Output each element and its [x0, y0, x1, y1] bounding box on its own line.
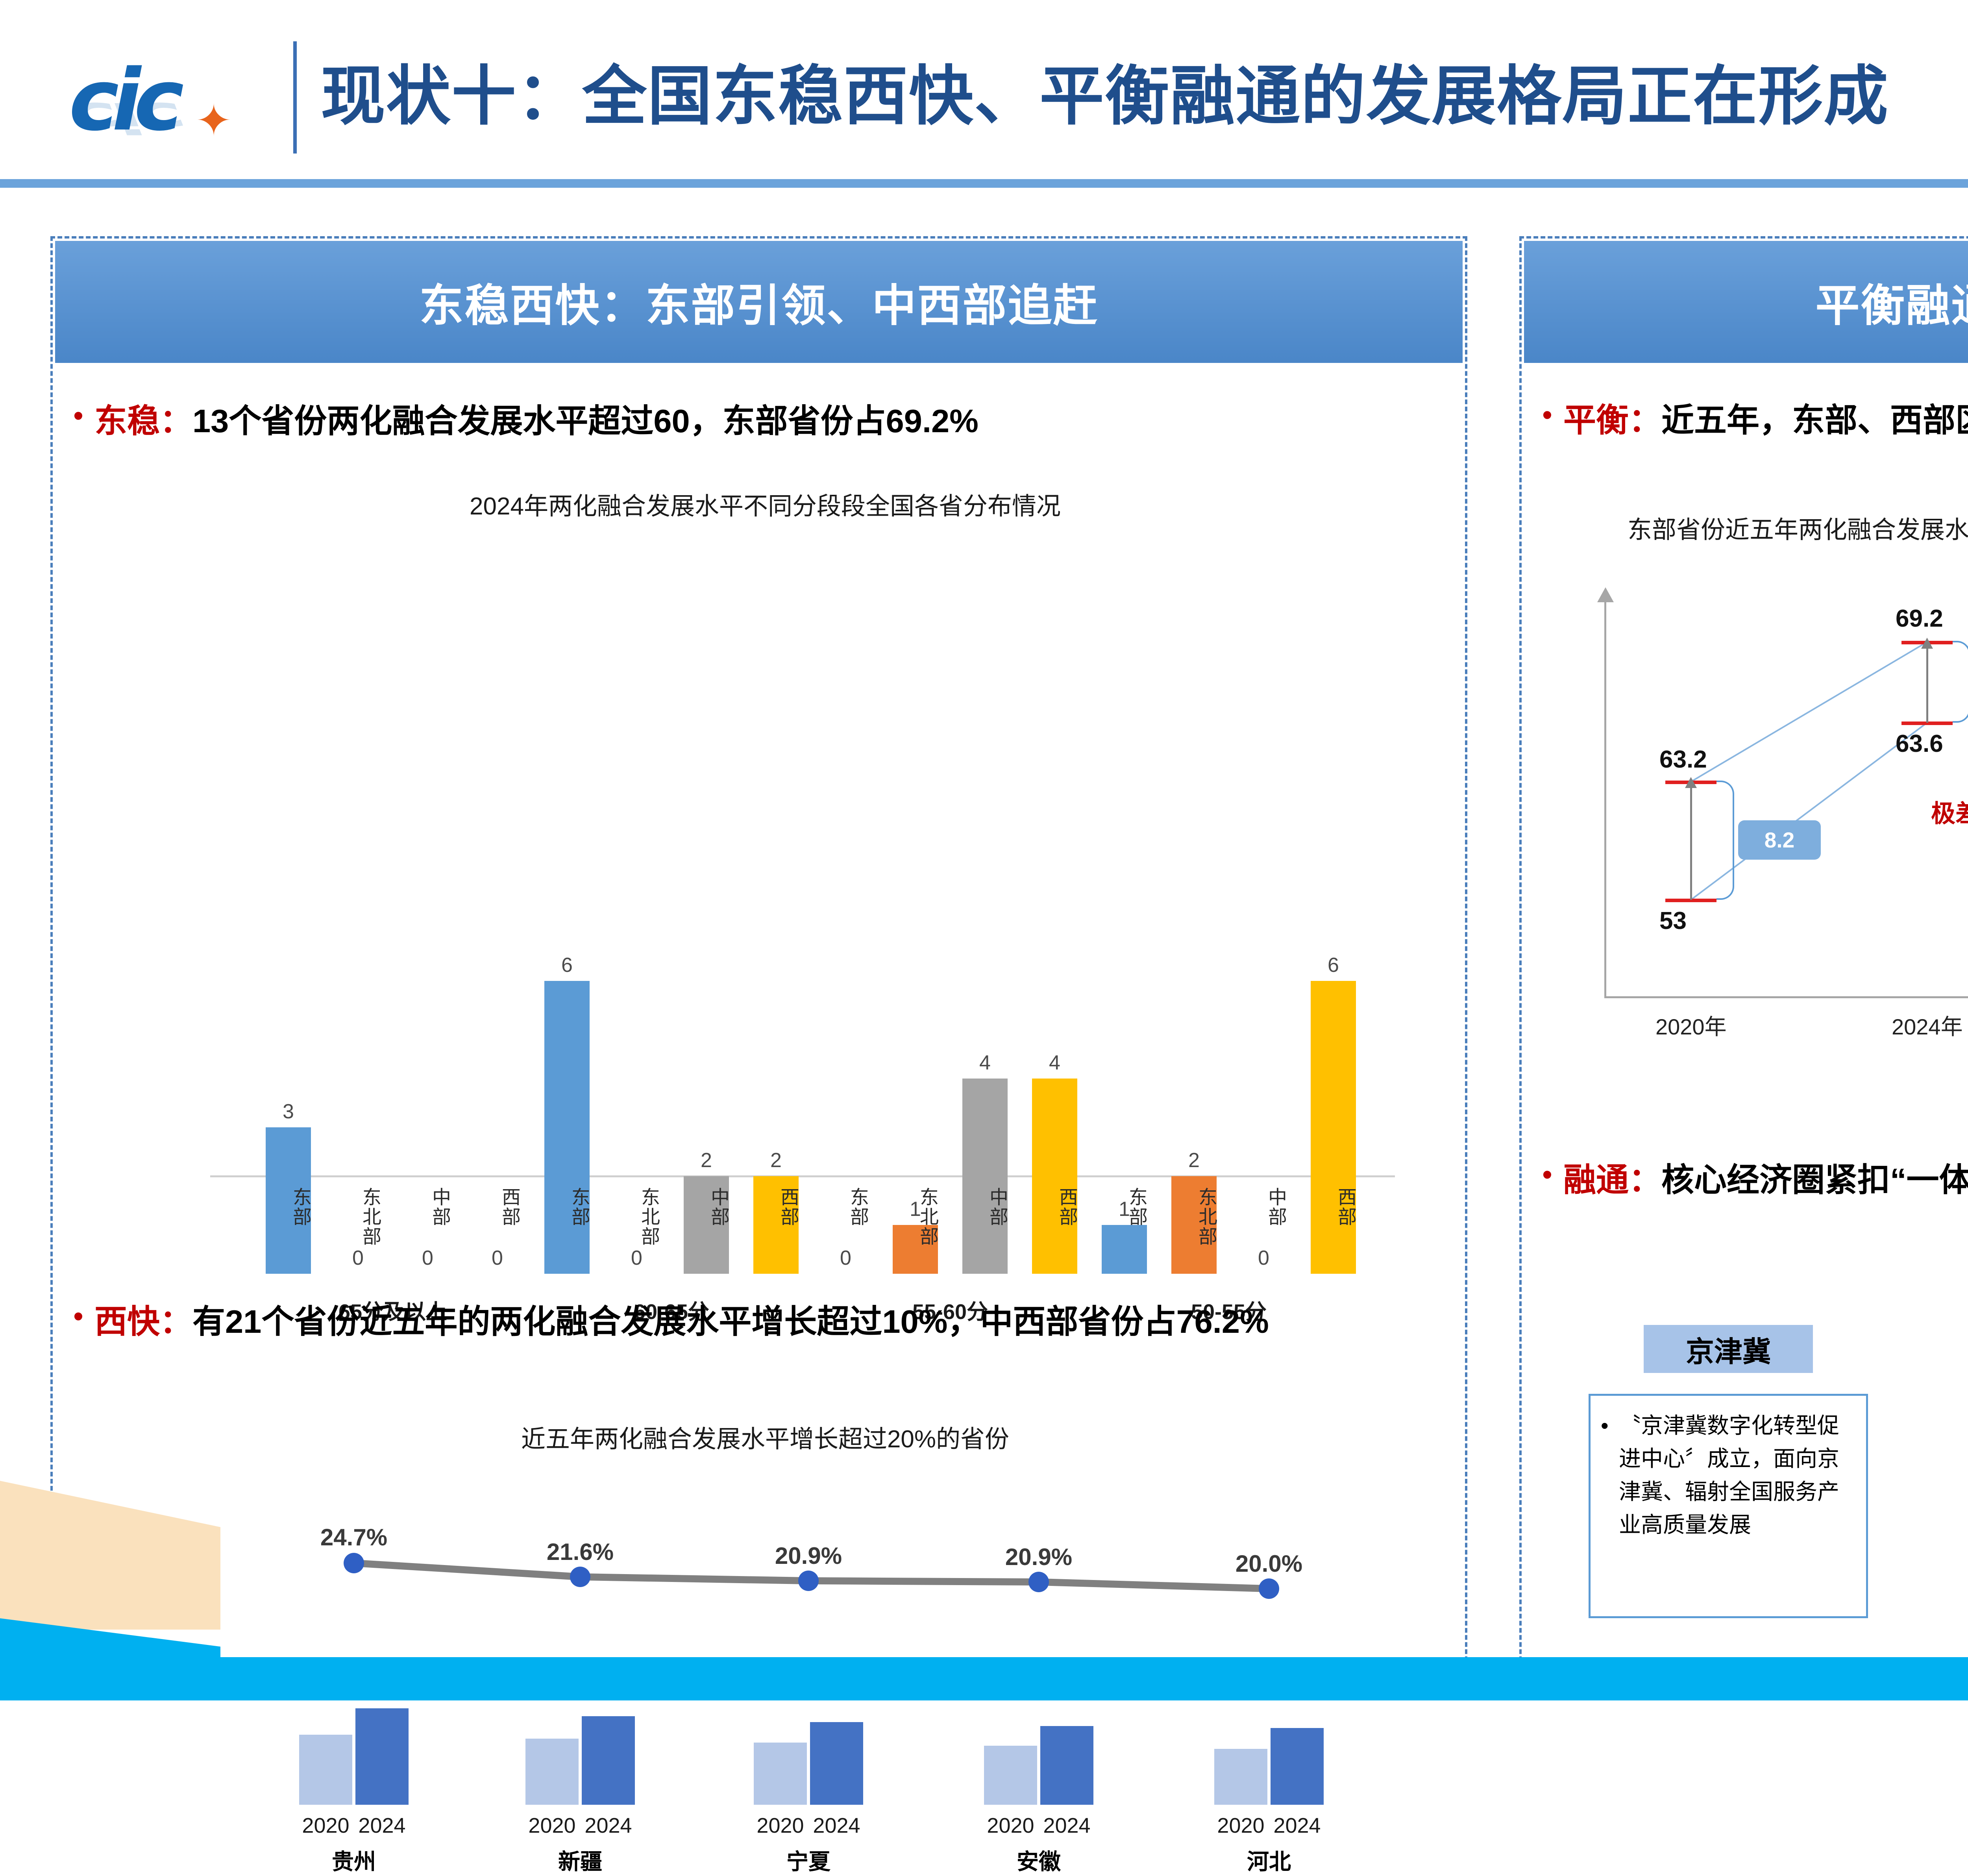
slope1-2024-brace [1953, 641, 1968, 723]
header-divider [293, 41, 297, 154]
bar-2020 [984, 1746, 1037, 1805]
right-bullet-1: • 平衡：近五年，东部、西部区域内省份两化融合发展水平极差分别收窄31.7%和2… [1542, 396, 1968, 445]
footer-strip [220, 1657, 1968, 1700]
bar-2024 [355, 1708, 409, 1805]
slope1-2020-max-label: 63.2 [1659, 746, 1707, 773]
chart1-xlabel-2-2: 中部 [962, 1187, 1008, 1227]
slope1-2024-max-label: 69.2 [1896, 605, 1943, 633]
chart2-pct-0: 24.7% [320, 1524, 387, 1551]
cic-logo: cic ✦ cic [69, 51, 274, 150]
chart1-xlabel-3-1: 东北部 [1171, 1187, 1217, 1246]
slope1-gap-2020: 8.2 [1738, 820, 1821, 860]
bar-2020 [1214, 1749, 1267, 1805]
chart2-province-label-3: 安徽 [956, 1844, 1121, 1876]
right-panel-header: 平衡融通：区域间差距收窄、集聚效应显现 [1524, 241, 1968, 363]
chart2-years-4: 2020 2024 [1186, 1813, 1352, 1838]
list-item: • 〝京津冀数字化转型促进中心〞成立，面向京津冀、辐射全国服务产业高质量发展 [1601, 1409, 1854, 1541]
year-label: 2024 [1271, 1813, 1324, 1838]
right-panel: 平衡融通：区域间差距收窄、集聚效应显现 • 平衡：近五年，东部、西部区域内省份两… [1519, 236, 1968, 1661]
slope1-2020-min-label: 53 [1659, 907, 1687, 935]
slope1-title: 东部省份近五年两化融合发展水平差距收窄情况 [1589, 514, 1968, 546]
chart1-xlabel-2-0: 东部 [823, 1187, 868, 1227]
left-bullet-2-lead: 西快： [94, 1303, 192, 1340]
bar-2024 [582, 1716, 635, 1805]
slope1-note: 极差收窄：31.7% [1931, 794, 1968, 829]
left-panel-header: 东稳西快：东部引领、中西部追赶 [55, 241, 1463, 363]
chart2-years-3: 2020 2024 [956, 1813, 1121, 1838]
right-bullet-1-body: 近五年，东部、西部区域内省份两化融合发展水平极差分别收窄31.7%和20.1% [1661, 402, 1968, 438]
chart1-xlabel-2-1: 东北部 [893, 1187, 938, 1246]
chart2-pct-1: 21.6% [547, 1538, 614, 1565]
bullet-dot-icon: • [1601, 1409, 1619, 1442]
chart-province-growth: 24.7% 21.6% 20.9% 20.9% 20.0% 2020 2024 … [183, 1526, 1422, 1876]
chart1-title: 2024年两化融合发展水平不同分段段全国各省分布情况 [171, 490, 1359, 523]
bar-2020 [754, 1743, 807, 1805]
year-label: 2024 [582, 1813, 635, 1838]
right-panel-header-label: 平衡融通：区域间差距收窄、集聚效应显现 [1816, 270, 1968, 334]
right-bullet-1-lead: 平衡： [1563, 402, 1661, 438]
chart2-province-label-0: 贵州 [271, 1844, 437, 1876]
bullet-dot-icon: • [73, 1297, 94, 1335]
chart2-point-labels: 24.7% 21.6% 20.9% 20.9% 20.0% [183, 1526, 1422, 1644]
left-bullet-1-body: 13个省份两化融合发展水平超过60，东部省份占69.2% [192, 403, 978, 439]
bar-2024 [1271, 1728, 1324, 1805]
slope1-connectors [1581, 585, 1968, 1049]
year-label: 2020 [754, 1813, 807, 1838]
chart-east-gap: 8.2 63.2 53 5.6 69.2 63.6 极差收窄：31.7% 202… [1581, 585, 1968, 1049]
chart2-province-label-1: 新疆 [498, 1844, 663, 1876]
bar-2024 [810, 1722, 863, 1805]
region-chip-label: 京津冀 [1686, 1328, 1771, 1370]
header-rule [0, 179, 1968, 188]
year-label: 2020 [525, 1813, 579, 1838]
star-icon: ✦ [196, 99, 232, 142]
year-label: 2024 [810, 1813, 863, 1838]
chart1-value-3-1: 2 [1188, 1149, 1200, 1172]
header-rule-inner [0, 188, 1968, 190]
year-label: 2020 [984, 1813, 1037, 1838]
chart1-xlabel-3-0: 东部 [1102, 1187, 1147, 1227]
chart1-x-labels: 东部 东北部 中部 西部 东部 东北部 中部 西部 东部 东北部 中部 西部 东… [183, 1187, 1422, 1290]
chart2-pct-3: 20.9% [1005, 1543, 1072, 1571]
region-card-jingjinji: • 〝京津冀数字化转型促进中心〞成立，面向京津冀、辐射全国服务产业高质量发展 [1589, 1394, 1868, 1618]
chart1-value-0-0: 3 [283, 1100, 294, 1123]
right-bullet-2-lead: 融通： [1563, 1162, 1661, 1198]
slope1-2020-arrow [1690, 786, 1692, 900]
chart2-province-label-4: 河北 [1186, 1844, 1352, 1876]
chart1-xlabel-3-2: 中部 [1241, 1187, 1286, 1227]
year-label: 2020 [1214, 1813, 1267, 1838]
left-bullet-2: • 西快：有21个省份近五年的两化融合发展水平增长超过10%，中西部省份占76.… [73, 1297, 1435, 1346]
chart1-value-3-3: 6 [1328, 953, 1339, 977]
page-title: 现状十：全国东稳西快、平衡融通的发展格局正在形成 [321, 43, 1889, 150]
chart2-pct-2: 20.9% [775, 1542, 842, 1569]
left-bullet-1-lead: 东稳： [94, 403, 192, 439]
chart2-pct-4: 20.0% [1236, 1550, 1302, 1577]
year-label: 2024 [1040, 1813, 1093, 1838]
chart1-value-2-3: 4 [1049, 1051, 1060, 1075]
chart1-xlabel-2-3: 西部 [1032, 1187, 1077, 1227]
slope1-2024-arrow [1926, 647, 1928, 723]
left-panel: 东稳西快：东部引领、中西部追赶 • 东稳：13个省份两化融合发展水平超过60，东… [50, 236, 1467, 1661]
chart2-years-1: 2020 2024 [498, 1813, 663, 1838]
chart1-value-2-2: 4 [979, 1051, 991, 1075]
chart2-province-label-2: 宁夏 [726, 1844, 891, 1876]
slide-header: cic ✦ cic 现状十：全国东稳西快、平衡融通的发展格局正在形成 [0, 0, 1968, 197]
slope1-x-2024: 2024年 [1892, 1009, 1963, 1041]
bar-2020 [299, 1735, 352, 1805]
chart2-title: 近五年两化融合发展水平增长超过20%的省份 [171, 1423, 1359, 1456]
bar-2024 [1040, 1726, 1093, 1805]
chart1-xlabel-0-0: 东部 [266, 1187, 311, 1227]
logo-reflection: cic [69, 93, 177, 143]
bullet-dot-icon: • [73, 397, 94, 435]
chart1-xlabel-1-2: 中部 [684, 1187, 729, 1227]
chart1-value-1-0: 6 [561, 953, 573, 977]
chart-province-distribution: 3 0 0 0 6 0 [183, 809, 1422, 1274]
left-bullet-2-body: 有21个省份近五年的两化融合发展水平增长超过10%，中西部省份占76.2% [192, 1303, 1269, 1340]
bullet-dot-icon: • [1542, 396, 1563, 434]
chart1-xlabel-1-0: 东部 [544, 1187, 590, 1227]
slope1-x-2020: 2020年 [1655, 1009, 1727, 1041]
slope1-2020-brace [1716, 781, 1734, 900]
region-card-text: 〝京津冀数字化转型促进中心〞成立，面向京津冀、辐射全国服务产业高质量发展 [1619, 1409, 1854, 1541]
year-label: 2020 [299, 1813, 352, 1838]
left-bullet-1: • 东稳：13个省份两化融合发展水平超过60，东部省份占69.2% [73, 397, 1419, 446]
chart2-years-0: 2020 2024 [271, 1813, 437, 1838]
slope1-2024-min-label: 63.6 [1896, 730, 1943, 758]
chart1-xlabel-1-3: 西部 [753, 1187, 799, 1227]
chart1-value-1-2: 2 [701, 1149, 712, 1172]
bar-2020 [525, 1739, 579, 1805]
region-chip-jingjinji[interactable]: 京津冀 [1644, 1325, 1813, 1373]
year-label: 2024 [355, 1813, 409, 1838]
chart1-value-1-3: 2 [770, 1149, 782, 1172]
chart1-xlabel-0-2: 中部 [405, 1187, 450, 1227]
chart1-xlabel-0-1: 东北部 [335, 1187, 381, 1246]
chart1-xlabel-0-3: 西部 [475, 1187, 520, 1227]
right-bullet-2: • 融通：核心经济圈紧扣“一体化”和“高质量”关键词，加快数字化转型生态建设 [1542, 1156, 1968, 1204]
left-panel-header-label: 东稳西快：东部引领、中西部追赶 [420, 270, 1099, 334]
chart2-years-2: 2020 2024 [726, 1813, 891, 1838]
right-bullet-2-body: 核心经济圈紧扣“一体化”和“高质量”关键词，加快数字化转型生态建设 [1661, 1162, 1968, 1198]
chart1-xlabel-3-3: 西部 [1311, 1187, 1356, 1227]
bullet-dot-icon: • [1542, 1156, 1563, 1193]
chart1-xlabel-1-1: 东北部 [614, 1187, 659, 1246]
